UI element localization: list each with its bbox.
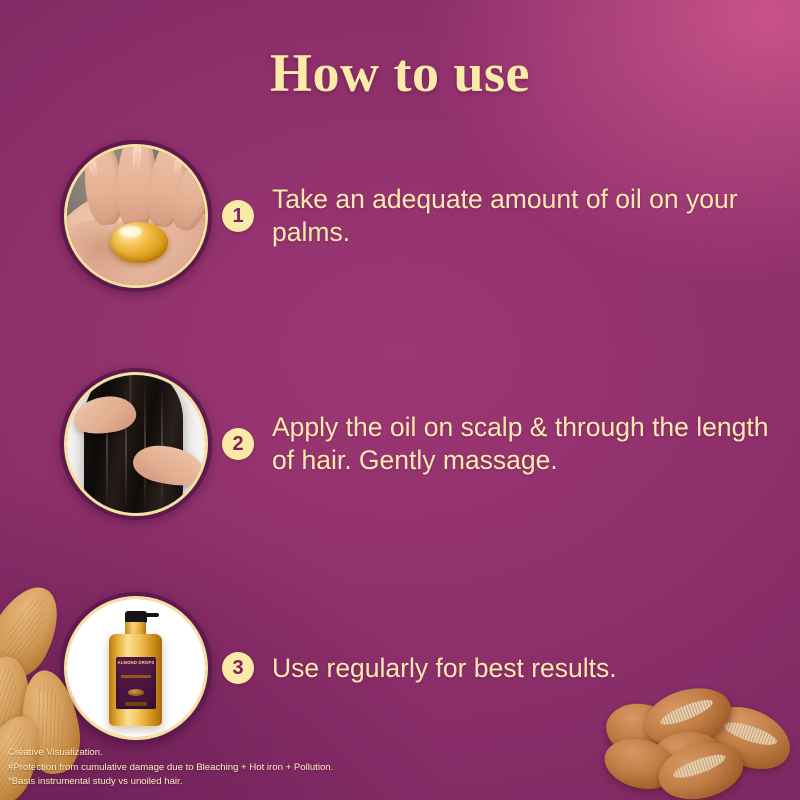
hair-illustration [67,375,205,513]
nut-crack [672,750,729,782]
footer-line-3: *Basis instrumental study vs unoiled hai… [8,775,333,790]
how-to-use-poster: How to use [0,0,800,800]
long-black-hair [84,375,183,513]
footer-disclaimers: Creative Visualization. #Protection from… [8,746,333,790]
page-title: How to use [0,42,800,104]
argan-nuts-decoration [600,688,796,800]
photo-clip [67,147,205,285]
oil-highlight [119,226,141,237]
step-2-row: 2 Apply the oil on scalp & through the l… [0,368,800,520]
pump-nozzle [143,613,160,617]
step-1-number-badge: 1 [222,200,254,232]
nut-crack [723,718,780,749]
hair-parting [129,375,132,405]
step-3-text: Use regularly for best results. [272,652,617,685]
step-2-thumb-wrap [56,368,216,520]
almond-graphic [128,689,144,696]
bottle-body: ALMOND DROPS [109,634,162,726]
brand-name: ALMOND DROPS [116,660,156,665]
step-2-number-badge: 2 [222,428,254,460]
footer-line-1: Creative Visualization. [8,746,333,761]
step-2-text: Apply the oil on scalp & through the len… [272,411,782,476]
fingernail-1 [87,153,99,176]
oil-bottle: ALMOND DROPS [108,611,163,726]
footer-line-2: #Protection from cumulative damage due t… [8,761,333,776]
label-footer-bar [125,702,148,706]
step-1-body: 1 Take an adequate amount of oil on your… [222,183,782,248]
step-1-text: Take an adequate amount of oil on your p… [272,183,782,248]
step-1-row: 1 Take an adequate amount of oil on your… [0,140,800,292]
almonds-decoration [0,578,88,773]
hand-with-oil-drop-photo [60,140,212,292]
step-2-body: 2 Apply the oil on scalp & through the l… [222,411,782,476]
woman-massaging-long-hair-photo [60,368,212,520]
step-3-body: 3 Use regularly for best results. [222,652,617,685]
hand-illustration [67,147,205,285]
fingernail-3 [172,150,186,175]
bottle-label: ALMOND DROPS [116,657,156,708]
step-3-number-badge: 3 [222,652,254,684]
label-subtitle-bar [121,675,152,679]
fingernail-2 [132,147,142,170]
photo-clip [67,375,205,513]
nut-crack [658,695,715,729]
step-1-thumb-wrap [56,140,216,292]
